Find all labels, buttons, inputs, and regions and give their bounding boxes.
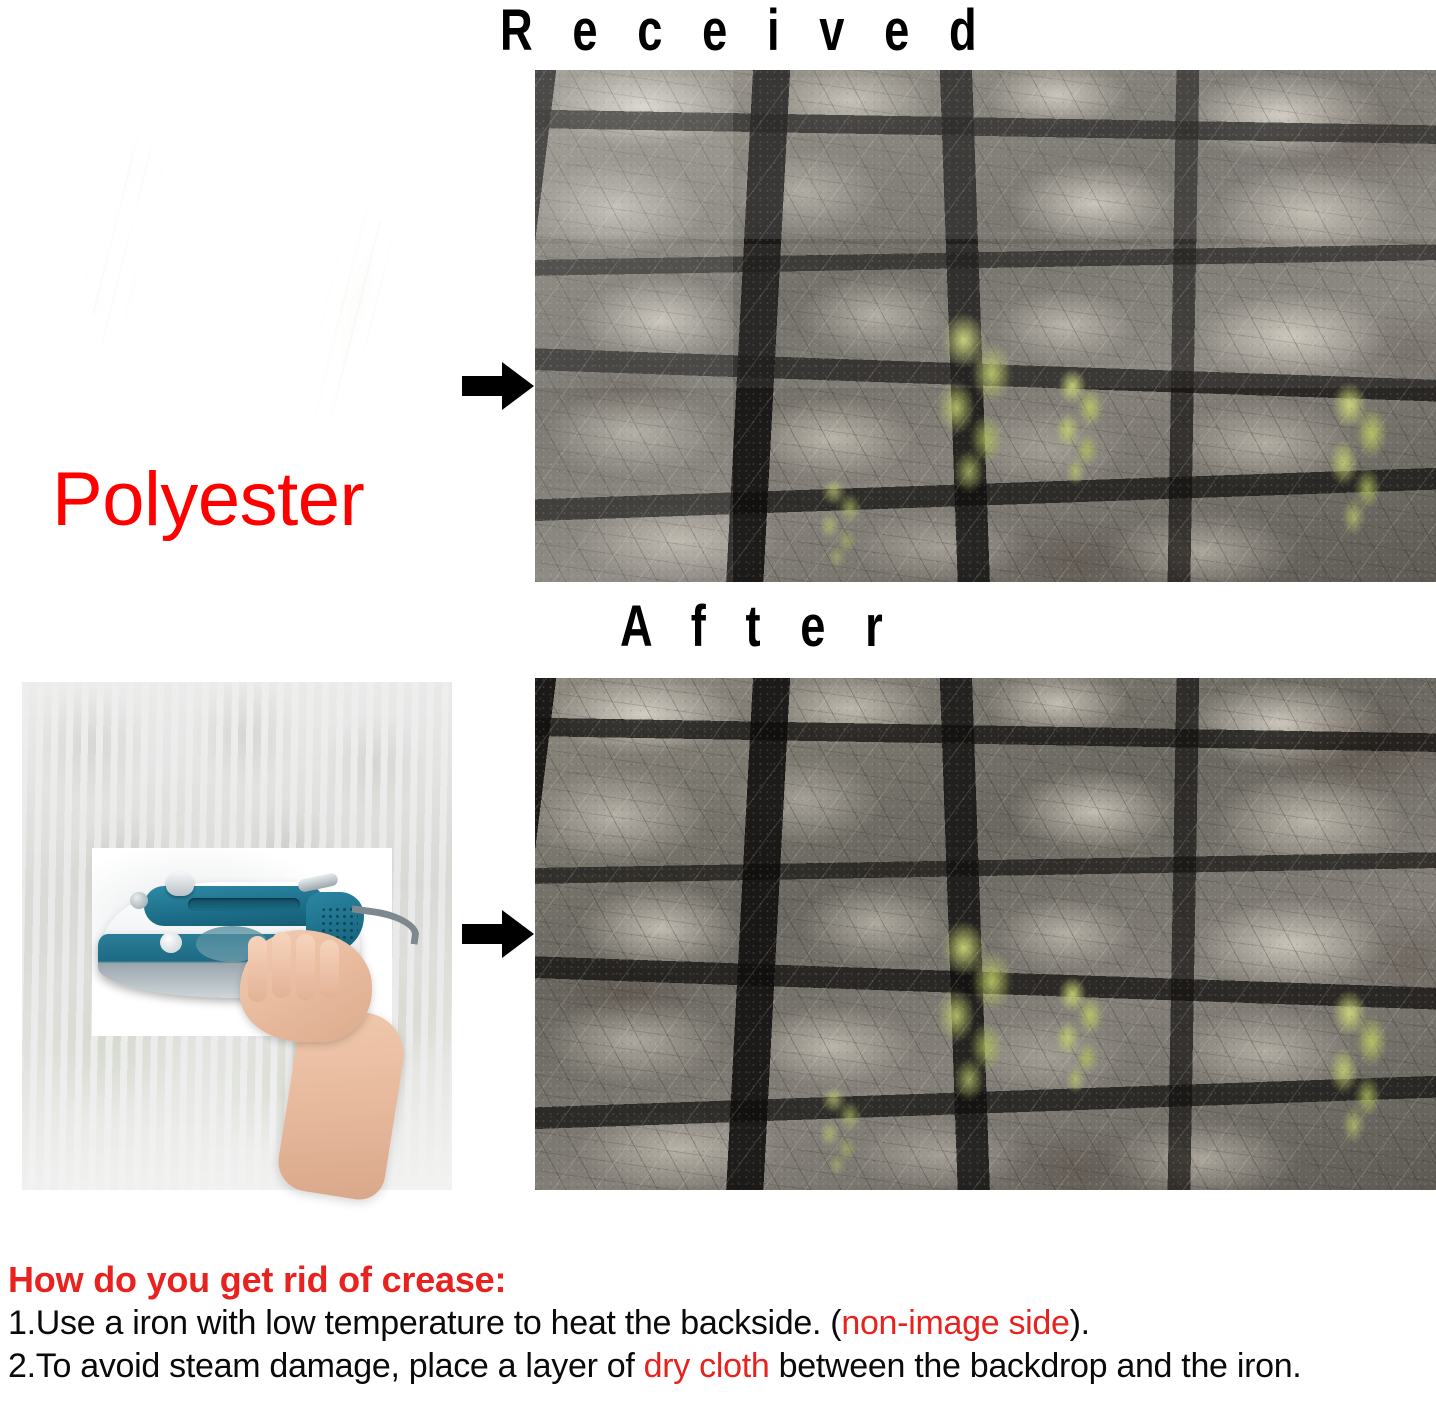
- rock-grain: [535, 70, 1436, 582]
- care-step-2-highlight: dry cloth: [644, 1347, 770, 1385]
- received-photo: [535, 70, 1436, 582]
- care-step-1-text-a: 1.Use a iron with low temperature to hea…: [8, 1304, 841, 1342]
- iron-steam-knob: [166, 872, 194, 896]
- care-step-2-text-a: 2.To avoid steam damage, place a layer o…: [8, 1347, 644, 1385]
- swatch-sheen: [18, 82, 438, 482]
- care-heading: How do you get rid of crease:: [8, 1258, 1432, 1302]
- finger: [296, 934, 315, 1000]
- right-arrow-icon: [462, 360, 534, 412]
- care-instructions: How do you get rid of crease: 1.Use a ir…: [8, 1258, 1432, 1388]
- after-photo: [535, 678, 1436, 1190]
- polyester-label: Polyester: [52, 462, 364, 538]
- received-heading: R e c e i v e d: [500, 2, 990, 60]
- care-step-1: 1.Use a iron with low temperature to hea…: [8, 1302, 1432, 1345]
- iron-dial: [130, 892, 148, 909]
- care-step-2: 2.To avoid steam damage, place a layer o…: [8, 1345, 1432, 1388]
- right-arrow-icon: [462, 908, 534, 960]
- infographic-page: R e c e i v e d Polyester A f t e r: [0, 0, 1436, 1401]
- hand-icon: [240, 930, 372, 1042]
- after-heading: A f t e r: [620, 598, 896, 656]
- finger: [248, 936, 267, 1002]
- finger: [320, 940, 339, 998]
- rock-grain: [535, 678, 1436, 1190]
- care-step-2-text-b: between the backdrop and the iron.: [769, 1347, 1301, 1385]
- care-step-1-highlight: non-image side: [841, 1304, 1069, 1342]
- iron-button: [160, 932, 182, 953]
- polyester-swatch: [18, 82, 438, 482]
- iron-handle-slot: [188, 898, 300, 911]
- finger: [272, 932, 291, 998]
- care-step-1-text-b: ).: [1070, 1304, 1090, 1342]
